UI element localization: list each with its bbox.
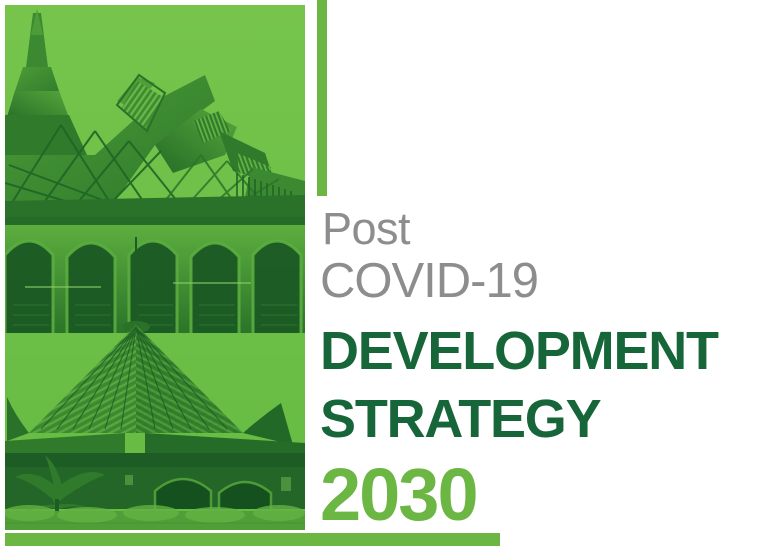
building-illustration: [5, 5, 305, 530]
cover-title-block: Post COVID-19 DEVELOPMENT STRATEGY 2030: [320, 206, 750, 532]
title-main-line-2: STRATEGY: [320, 392, 750, 446]
title-year: 2030: [320, 458, 750, 532]
title-eyebrow-line-2: COVID-19: [320, 257, 750, 306]
bottom-accent-rule: [5, 533, 500, 546]
title-main-line-1: DEVELOPMENT: [320, 324, 750, 378]
title-eyebrow-line-1: Post: [320, 206, 750, 251]
vertical-accent-rule: [317, 0, 327, 196]
hero-photo: [5, 5, 305, 530]
report-cover-page: Post COVID-19 DEVELOPMENT STRATEGY 2030: [0, 0, 761, 549]
